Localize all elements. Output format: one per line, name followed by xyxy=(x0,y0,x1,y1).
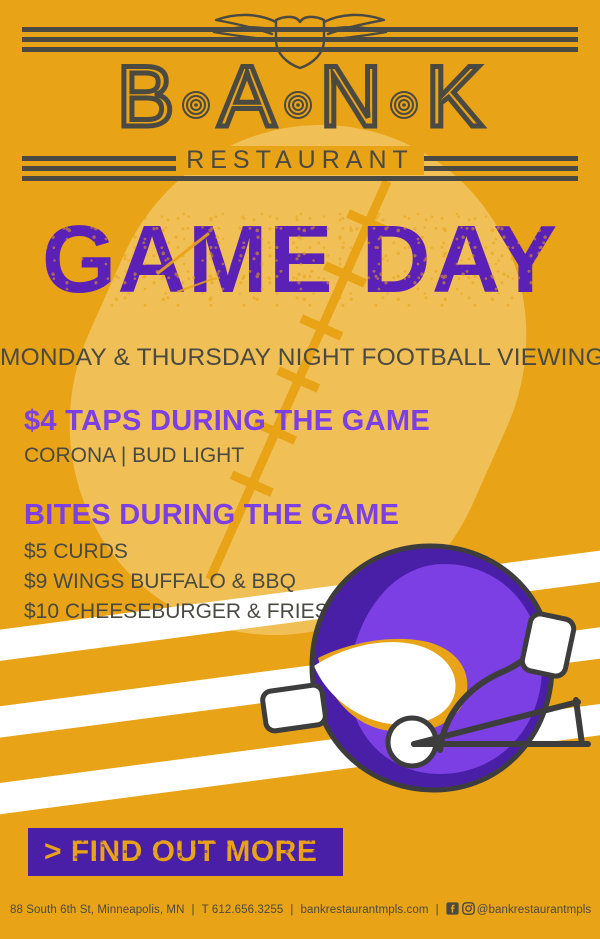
find-out-more-button[interactable]: > FIND OUT MORE xyxy=(28,828,343,876)
ring-separator-icon xyxy=(283,90,313,120)
page-subtitle: MONDAY & THURSDAY NIGHT FOOTBALL VIEWING xyxy=(0,344,600,372)
logo-letter-b: B xyxy=(117,54,174,140)
ring-separator-icon xyxy=(389,90,419,120)
restaurant-wordmark-row: RESTAURANT xyxy=(0,146,600,175)
ring-separator-icon xyxy=(181,90,211,120)
footer-separator: | xyxy=(283,904,300,916)
instagram-icon[interactable] xyxy=(462,902,475,918)
footer-social-handle[interactable]: @bankrestaurantmpls xyxy=(477,904,592,916)
logo-letter-a: A xyxy=(218,54,275,140)
offer-detail: CORONA | BUD LIGHT xyxy=(24,442,494,470)
bank-letters: B A N xyxy=(0,56,600,138)
facebook-icon[interactable] xyxy=(446,902,459,918)
social-icons xyxy=(446,902,475,918)
offer-heading: $4 TAPS DURING THE GAME xyxy=(24,404,494,438)
offer-heading: BITES DURING THE GAME xyxy=(24,498,494,532)
logo-top-rules xyxy=(22,27,578,52)
footer-phone[interactable]: T 612.656.3255 xyxy=(202,904,284,916)
restaurant-wordmark: RESTAURANT xyxy=(176,146,424,175)
find-out-more-label: > FIND OUT MORE xyxy=(30,835,317,869)
logo-letter-n: N xyxy=(320,54,382,140)
footer-separator: | xyxy=(429,904,446,916)
game-day-poster: B A N xyxy=(0,0,600,939)
bank-restaurant-logo: B A N xyxy=(0,0,600,192)
footer: 88 South 6th St, Minneapolis, MN | T 612… xyxy=(10,902,595,918)
page-title: GAME DAY xyxy=(0,212,600,308)
page-title-text: GAME DAY xyxy=(42,212,559,308)
footer-website[interactable]: bankrestaurantmpls.com xyxy=(300,904,428,916)
logo-letter-k: K xyxy=(426,54,483,140)
footer-address: 88 South 6th St, Minneapolis, MN xyxy=(10,904,185,916)
football-helmet-icon xyxy=(258,538,600,868)
footer-separator: | xyxy=(185,904,202,916)
offer-group-taps: $4 TAPS DURING THE GAME CORONA | BUD LIG… xyxy=(24,404,494,470)
